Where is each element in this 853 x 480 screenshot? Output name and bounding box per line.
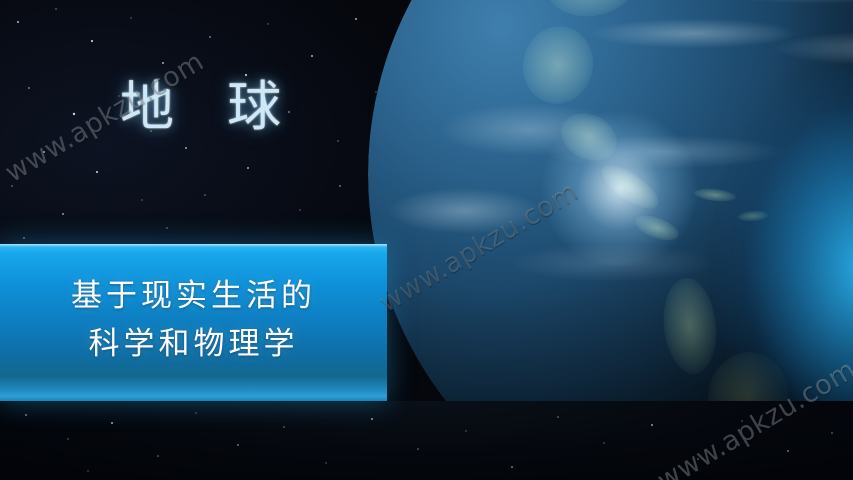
lower-sky-band [0, 401, 853, 480]
subtitle-text: 基于现实生活的 科学和物理学 [0, 272, 387, 368]
subtitle-banner: 基于现实生活的 科学和物理学 [0, 244, 387, 401]
starfield-lower-icon [0, 401, 853, 480]
app-title: 地 球 [120, 80, 299, 134]
splash-screen: 地 球 基于现实生活的 科学和物理学 www.apkzu.com www.apk… [0, 0, 853, 480]
subtitle-line-1: 基于现实生活的 [0, 272, 387, 320]
subtitle-line-2: 科学和物理学 [0, 320, 387, 368]
